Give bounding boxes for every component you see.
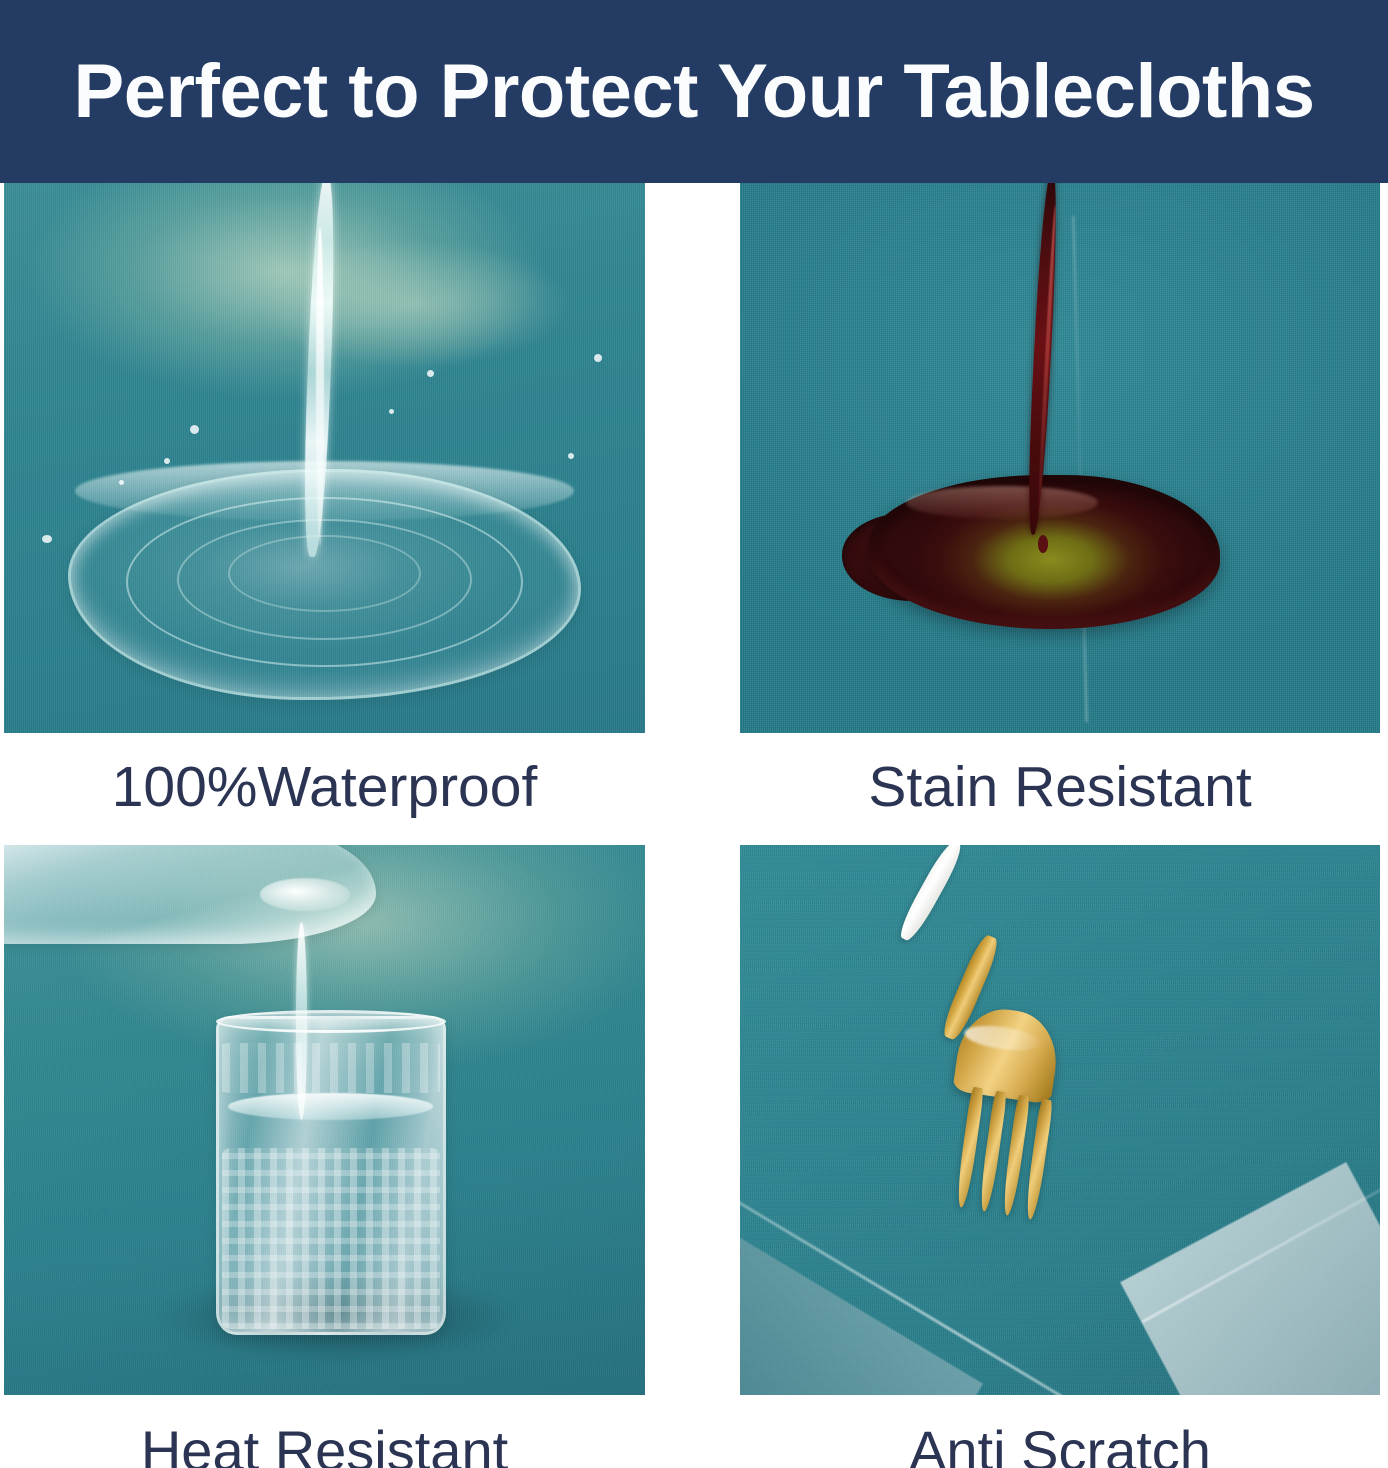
- water-droplet: [190, 425, 199, 434]
- feature-caption-waterproof: 100%Waterproof: [4, 733, 645, 821]
- heat-resistant-photo: [4, 845, 645, 1395]
- feature-card-heat-resistant: Heat Resistant: [4, 845, 645, 1395]
- feature-grid: 100%Waterproof Stain Resistant: [0, 183, 1388, 1468]
- water-droplet: [427, 370, 434, 377]
- water-droplet: [389, 409, 394, 414]
- tumbler-waterline: [228, 1093, 433, 1121]
- pitcher-spout-highlight: [260, 878, 350, 911]
- header-banner: Perfect to Protect Your Tablecloths: [0, 0, 1388, 183]
- fabric-weave-texture: [740, 183, 1380, 733]
- feature-card-anti-scratch: Anti Scratch: [740, 845, 1380, 1395]
- feature-caption-stain-resistant: Stain Resistant: [740, 733, 1380, 821]
- feature-caption-anti-scratch: Anti Scratch: [740, 1395, 1380, 1468]
- stain-resistant-photo: [740, 183, 1380, 733]
- page-title: Perfect to Protect Your Tablecloths: [74, 54, 1315, 130]
- water-droplet: [594, 354, 602, 362]
- tumbler-cut-facets: [222, 1148, 440, 1330]
- tumbler-rim: [216, 1010, 447, 1033]
- waterproof-photo: [4, 183, 645, 733]
- feature-card-stain-resistant: Stain Resistant: [740, 183, 1380, 733]
- wine-pool-gloss: [906, 486, 1098, 519]
- anti-scratch-photo: [740, 845, 1380, 1395]
- water-ripple-ring: [228, 535, 420, 612]
- feature-caption-heat-resistant: Heat Resistant: [4, 1395, 645, 1468]
- infographic-page: Perfect to Protect Your Tablecloths: [0, 0, 1388, 1468]
- feature-card-waterproof: 100%Waterproof: [4, 183, 645, 733]
- tumbler-upper-facets: [222, 1043, 440, 1093]
- water-droplet: [568, 453, 574, 459]
